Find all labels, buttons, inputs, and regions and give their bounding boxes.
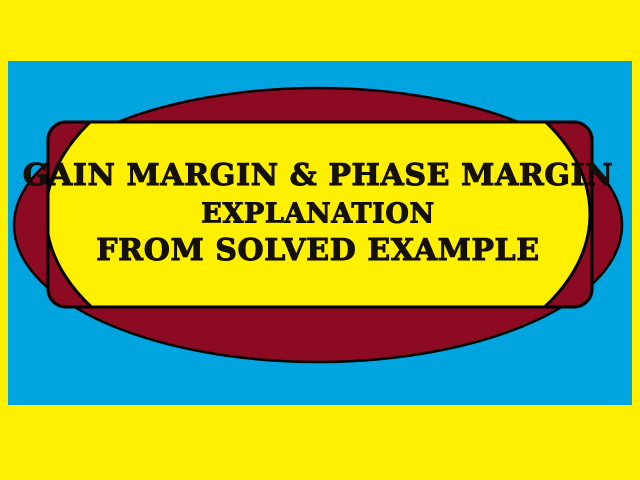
title-line-3: FROM SOLVED EXAMPLE xyxy=(96,233,539,268)
title-line-2: EXPLANATION xyxy=(201,199,434,230)
slide-graphic: GAIN MARGIN & PHASE MARGIN EXPLANATION F… xyxy=(0,0,640,480)
title-line-1: GAIN MARGIN & PHASE MARGIN xyxy=(23,158,614,193)
slide-canvas: GAIN MARGIN & PHASE MARGIN EXPLANATION F… xyxy=(0,0,640,480)
